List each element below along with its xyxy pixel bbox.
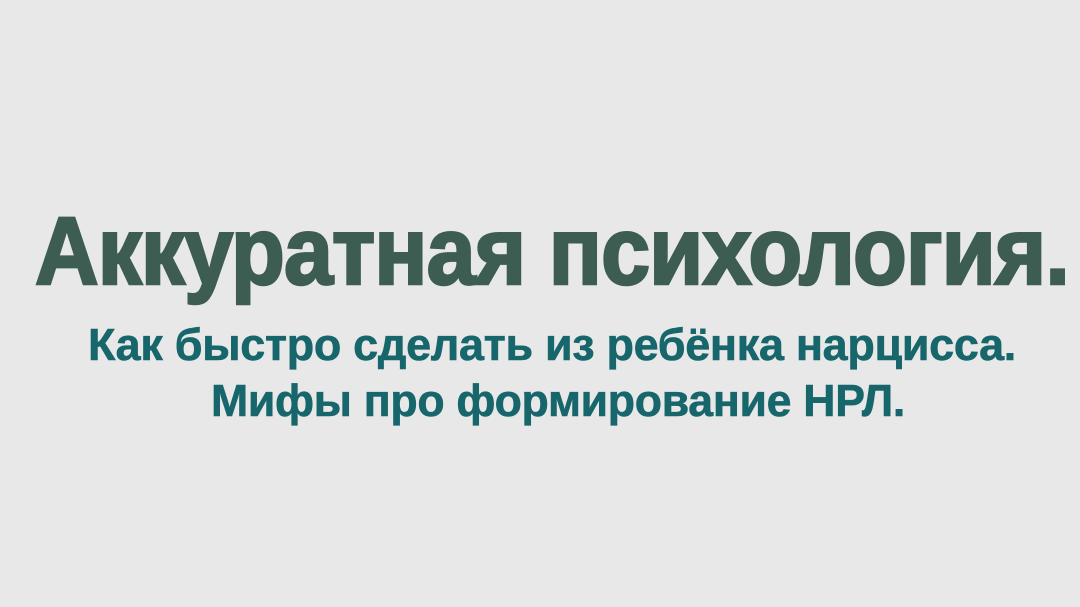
title-card: Аккуратная психология. Как быстро сделат…: [0, 0, 1080, 607]
subtitle-line-1: Как быстро сделать из ребёнка нарцисса.: [88, 322, 1016, 367]
page-title: Аккуратная психология.: [35, 204, 1069, 300]
subtitle-line-2: Мифы про формирование НРЛ.: [211, 378, 905, 423]
title-text-stack: Аккуратная психология. Как быстро сделат…: [0, 0, 1080, 607]
